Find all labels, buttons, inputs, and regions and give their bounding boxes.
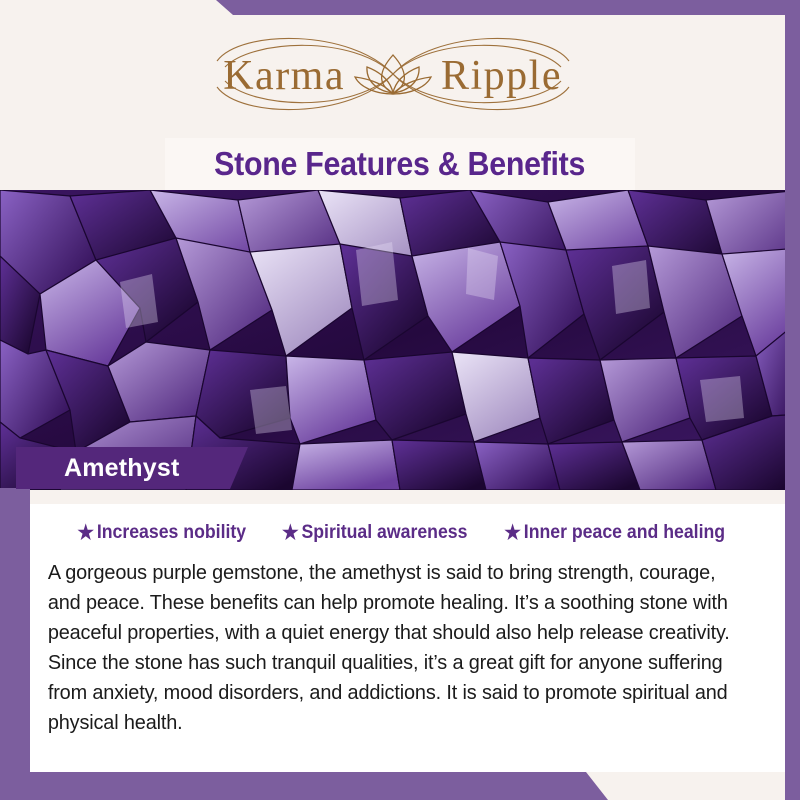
stone-name: Amethyst <box>16 454 180 483</box>
benefit-label-3: Inner peace and healing <box>524 522 725 544</box>
star-icon: ★ <box>505 523 522 543</box>
frame-band-top <box>216 0 800 15</box>
product-info-card: Karma Ripple Stone Features & Benefits <box>0 0 800 800</box>
benefit-label-1: Increases nobility <box>97 522 246 544</box>
stone-description: A gorgeous purple gemstone, the amethyst… <box>42 558 741 738</box>
brand-word-right: Ripple <box>441 53 562 99</box>
card-header: Karma Ripple Stone Features & Benefits <box>0 15 785 190</box>
benefit-item-2: ★ Spiritual awareness <box>282 522 467 544</box>
benefit-item-3: ★ Inner peace and healing <box>505 522 726 544</box>
frame-band-bottom <box>0 772 608 800</box>
karma-ripple-logo-svg: Karma Ripple <box>183 31 603 117</box>
frame-band-right <box>785 0 800 800</box>
benefits-list: ★ Increases nobility ★ Spiritual awarene… <box>42 522 763 544</box>
card-content: ★ Increases nobility ★ Spiritual awarene… <box>30 490 785 772</box>
page-title-plate: Stone Features & Benefits <box>165 138 635 190</box>
gemstone-photo-svg <box>0 190 800 490</box>
frame-band-left <box>0 488 30 800</box>
page-title: Stone Features & Benefits <box>214 145 585 183</box>
star-icon: ★ <box>282 523 299 543</box>
star-icon: ★ <box>78 523 95 543</box>
stone-name-banner: Amethyst <box>16 447 248 489</box>
brand-word-left: Karma <box>223 53 345 99</box>
benefit-item-1: ★ Increases nobility <box>78 522 247 544</box>
content-top-strip <box>30 490 785 504</box>
brand-logo: Karma Ripple <box>0 29 785 119</box>
gemstone-photo <box>0 190 800 490</box>
benefit-label-2: Spiritual awareness <box>301 522 467 544</box>
